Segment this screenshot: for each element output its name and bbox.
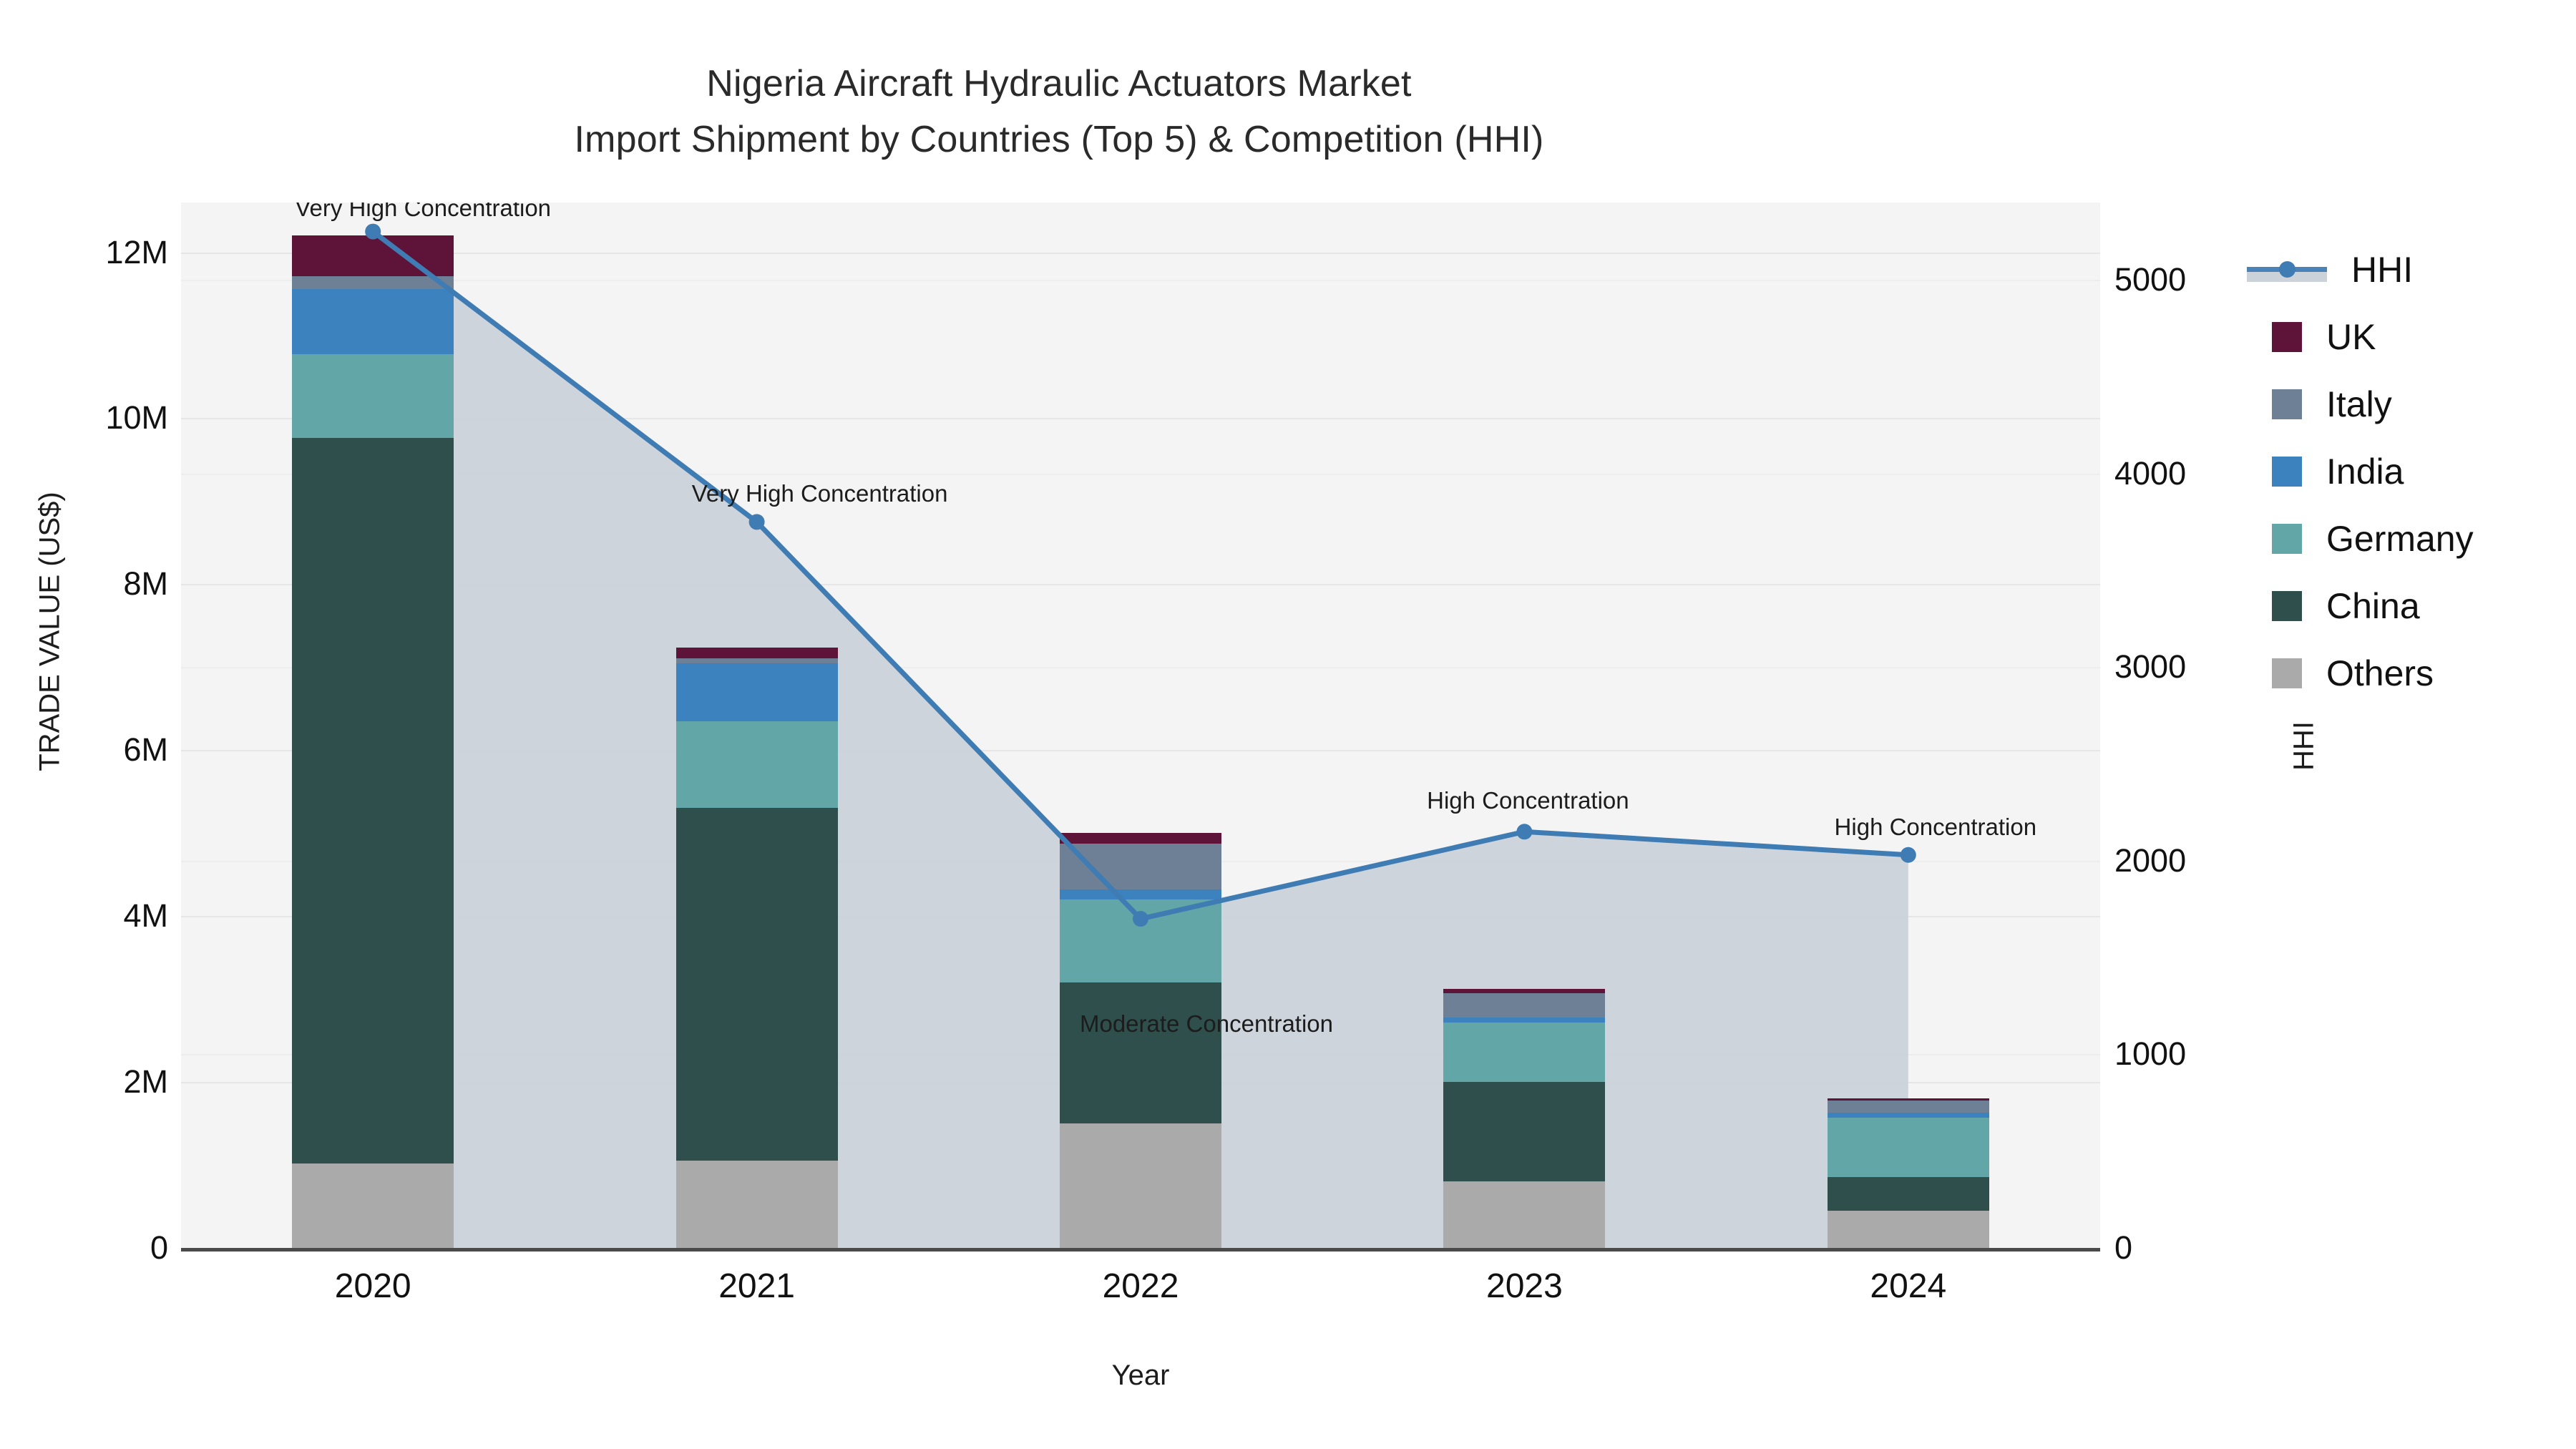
bar-segment-india[interactable] xyxy=(676,663,838,721)
y-tick-label: 0 xyxy=(150,1229,168,1267)
y2-tick-label: 4000 xyxy=(2114,455,2186,492)
y-tick-label: 2M xyxy=(123,1063,168,1101)
bar-stack-2020[interactable] xyxy=(292,203,454,1248)
bar-segment-germany[interactable] xyxy=(1443,1023,1605,1082)
legend-color-swatch xyxy=(2272,457,2302,487)
legend-label: Germany xyxy=(2326,518,2474,560)
bar-segment-germany[interactable] xyxy=(676,721,838,809)
legend-item-germany[interactable]: Germany xyxy=(2272,505,2474,572)
legend-color-swatch xyxy=(2272,591,2302,621)
legend-item-others[interactable]: Others xyxy=(2272,640,2474,707)
y2-tick-label: 3000 xyxy=(2114,648,2186,686)
legend-item-italy[interactable]: Italy xyxy=(2272,371,2474,438)
bar-segment-italy[interactable] xyxy=(1828,1101,1989,1113)
chart-title-block: Nigeria Aircraft Hydraulic Actuators Mar… xyxy=(0,56,2118,167)
bar-segment-italy[interactable] xyxy=(1443,993,1605,1018)
y2-tick-label: 0 xyxy=(2114,1229,2132,1267)
bar-segment-china[interactable] xyxy=(1828,1177,1989,1210)
bar-segment-india[interactable] xyxy=(1828,1113,1989,1118)
chart-canvas: Nigeria Aircraft Hydraulic Actuators Mar… xyxy=(0,0,2576,1449)
x-tick-label-2021: 2021 xyxy=(718,1267,795,1306)
bar-segment-india[interactable] xyxy=(1060,889,1221,899)
annotation-2024: High Concentration xyxy=(1835,814,2037,841)
legend-color-swatch xyxy=(2272,322,2302,352)
plot-area: Very High ConcentrationVery High Concent… xyxy=(181,203,2100,1248)
y2-tick-label: 1000 xyxy=(2114,1035,2186,1073)
bar-segment-china[interactable] xyxy=(292,438,454,1163)
bar-segment-italy[interactable] xyxy=(676,658,838,663)
bar-segment-india[interactable] xyxy=(1443,1018,1605,1023)
legend-color-swatch xyxy=(2272,524,2302,554)
x-axis-title: Year xyxy=(181,1360,2100,1392)
bar-segment-others[interactable] xyxy=(1060,1123,1221,1248)
x-tick-label-2023: 2023 xyxy=(1486,1267,1563,1306)
y2-tick-label: 5000 xyxy=(2114,261,2186,298)
x-tick-label-2020: 2020 xyxy=(335,1267,411,1306)
legend-label: UK xyxy=(2326,316,2376,358)
legend-label: China xyxy=(2326,585,2420,627)
bar-segment-china[interactable] xyxy=(1060,982,1221,1123)
y-axis-right-ticks: 010002000300040005000 xyxy=(2114,203,2258,1248)
bar-segment-uk[interactable] xyxy=(1060,833,1221,844)
y-tick-label: 8M xyxy=(123,565,168,602)
legend-color-swatch xyxy=(2272,658,2302,688)
chart-subtitle: Import Shipment by Countries (Top 5) & C… xyxy=(0,112,2118,167)
legend-label: Others xyxy=(2326,653,2434,694)
bar-stack-2024[interactable] xyxy=(1828,203,1989,1248)
bar-segment-germany[interactable] xyxy=(1828,1118,1989,1177)
legend-label: HHI xyxy=(2351,249,2413,291)
legend-item-hhi[interactable]: HHI xyxy=(2272,236,2474,303)
bar-segment-italy[interactable] xyxy=(292,276,454,288)
legend: HHIUKItalyIndiaGermanyChinaOthers xyxy=(2272,236,2474,707)
plot-inner: Very High ConcentrationVery High Concent… xyxy=(181,203,2100,1248)
y-tick-label: 4M xyxy=(123,897,168,935)
bar-stack-2022[interactable] xyxy=(1060,203,1221,1248)
bar-segment-others[interactable] xyxy=(292,1163,454,1248)
x-tick-label-2024: 2024 xyxy=(1870,1267,1946,1306)
x-axis-spine xyxy=(181,1248,2100,1252)
bar-stack-2021[interactable] xyxy=(676,203,838,1248)
bar-segment-china[interactable] xyxy=(1443,1082,1605,1181)
bar-segment-italy[interactable] xyxy=(1060,844,1221,889)
legend-item-china[interactable]: China xyxy=(2272,572,2474,640)
legend-label: India xyxy=(2326,451,2404,492)
legend-item-uk[interactable]: UK xyxy=(2272,303,2474,371)
y-tick-label: 10M xyxy=(105,399,168,436)
bar-segment-uk[interactable] xyxy=(676,648,838,658)
bar-segment-germany[interactable] xyxy=(1060,899,1221,982)
y-tick-label: 12M xyxy=(105,234,168,271)
bar-segment-others[interactable] xyxy=(1443,1181,1605,1248)
x-tick-label-2022: 2022 xyxy=(1103,1267,1179,1306)
y2-tick-label: 2000 xyxy=(2114,842,2186,879)
y-axis-title: TRADE VALUE (US$) xyxy=(34,431,67,832)
annotation-2020: Very High Concentration xyxy=(295,203,551,222)
bar-stack-2023[interactable] xyxy=(1443,203,1605,1248)
annotation-2022: Moderate Concentration xyxy=(1080,1010,1333,1038)
bar-segment-india[interactable] xyxy=(292,289,454,355)
bar-segment-china[interactable] xyxy=(676,808,838,1161)
bar-segment-uk[interactable] xyxy=(292,235,454,276)
bar-segment-uk[interactable] xyxy=(1443,989,1605,993)
legend-color-swatch xyxy=(2272,389,2302,419)
legend-item-india[interactable]: India xyxy=(2272,438,2474,505)
annotation-2023: High Concentration xyxy=(1427,787,1629,814)
legend-label: Italy xyxy=(2326,384,2392,425)
bar-segment-uk[interactable] xyxy=(1828,1098,1989,1101)
y-tick-label: 6M xyxy=(123,731,168,769)
bar-segment-others[interactable] xyxy=(676,1161,838,1248)
chart-title: Nigeria Aircraft Hydraulic Actuators Mar… xyxy=(0,56,2118,112)
bar-segment-germany[interactable] xyxy=(292,354,454,438)
legend-line-swatch xyxy=(2247,255,2327,285)
bar-segment-others[interactable] xyxy=(1828,1211,1989,1248)
annotation-2021: Very High Concentration xyxy=(692,480,948,507)
